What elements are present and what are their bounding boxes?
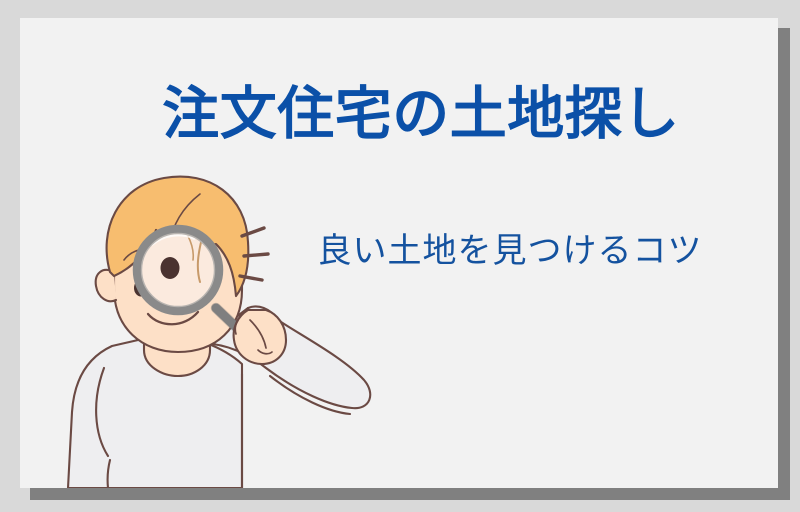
sparkle-line-2 — [244, 254, 268, 256]
magnified-eye — [161, 257, 180, 279]
hand — [234, 310, 286, 364]
illustration-svg — [52, 168, 382, 488]
page-title: 注文住宅の土地探し — [20, 86, 778, 143]
content-card: 注文住宅の土地探し 良い土地を見つけるコツ — [20, 18, 778, 488]
screenshot-canvas: 注文住宅の土地探し 良い土地を見つけるコツ — [0, 0, 800, 512]
person-with-magnifying-glass-illustration — [52, 168, 382, 488]
